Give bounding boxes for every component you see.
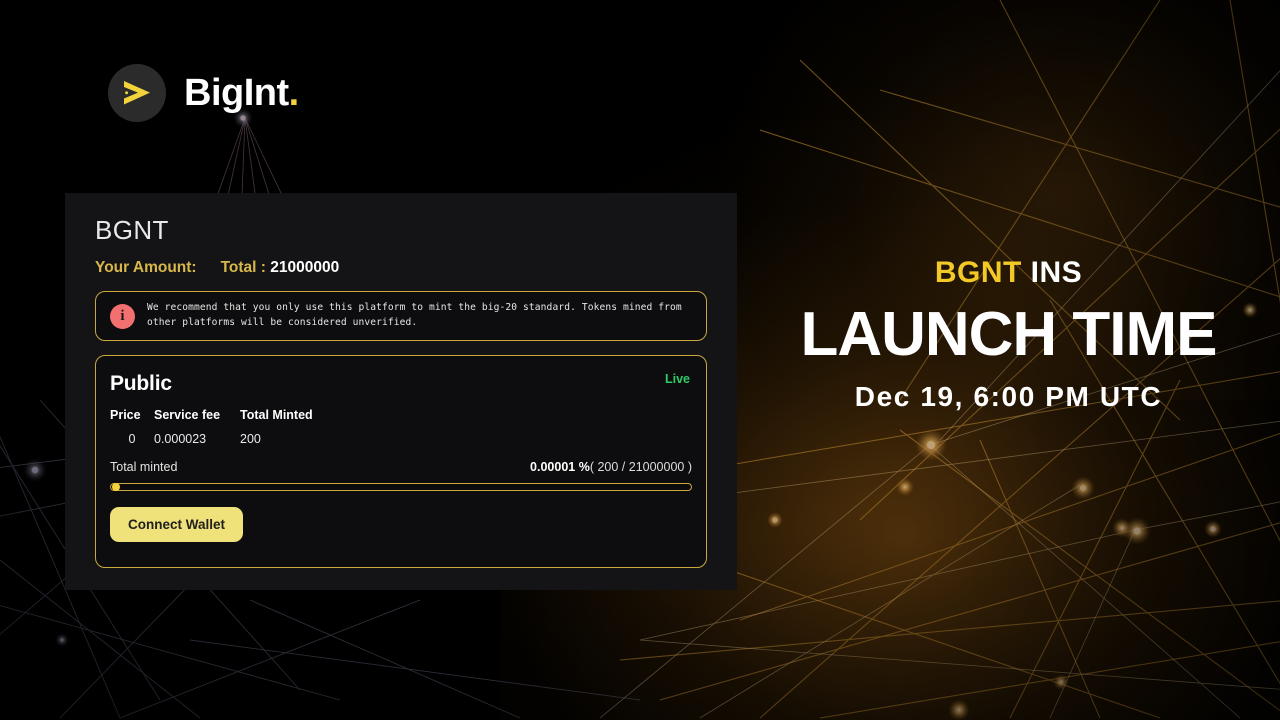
hero-section: BGNT INS LAUNCH TIME Dec 19, 6:00 PM UTC [737,258,1280,413]
brand-logo[interactable]: BigInt. [108,64,299,122]
progress-bar[interactable] [110,483,692,491]
table-header-row: Price Service fee Total Minted [110,408,350,432]
brand-name-text: BigInt [184,72,289,114]
hero-kicker-white: INS [1022,256,1082,289]
progress-knob[interactable] [112,483,120,491]
recommendation-alert: i We recommend that you only use this pl… [95,291,707,341]
cell-price: 0 [110,432,154,446]
amount-row: Your Amount: Total : 21000000 [95,259,707,277]
column-header-price: Price [110,408,154,432]
mint-stats-table: Price Service fee Total Minted 0 0.00002… [110,408,350,446]
cell-total-minted: 200 [240,432,350,446]
progress-label-row: Total minted 0.00001 %( 200 / 21000000 ) [110,460,692,474]
cell-service-fee: 0.000023 [154,432,240,446]
round-title: Public [110,372,172,396]
play-arrow-icon [120,78,154,108]
total-group: Total : 21000000 [221,259,340,277]
brand-name-dot: . [289,72,299,114]
hero-title: LAUNCH TIME [737,302,1280,367]
total-label: Total : [221,259,266,276]
logo-badge [108,64,166,122]
hero-kicker: BGNT INS [737,258,1280,288]
token-ticker: BGNT [95,215,707,246]
table-row: 0 0.000023 200 [110,432,350,446]
brand-name: BigInt. [184,74,299,112]
alert-text: We recommend that you only use this plat… [147,301,692,331]
column-header-service-fee: Service fee [154,408,240,432]
progress-percent: 0.00001 % [530,460,590,474]
mint-panel: BGNT Your Amount: Total : 21000000 i We … [65,193,737,590]
progress-values: 0.00001 %( 200 / 21000000 ) [530,460,692,474]
card-header: Public Live [110,372,692,396]
total-value: 21000000 [270,259,339,276]
status-badge: Live [665,372,692,386]
your-amount-label: Your Amount: [95,259,197,277]
mint-round-card: Public Live Price Service fee Total Mint… [95,355,707,568]
column-header-total-minted: Total Minted [240,408,350,432]
progress-fraction: ( 200 / 21000000 ) [590,460,692,474]
progress-label: Total minted [110,460,177,474]
connect-wallet-button[interactable]: Connect Wallet [110,507,243,542]
hero-kicker-gold: BGNT [935,256,1022,289]
info-icon: i [110,304,135,329]
hero-subtitle: Dec 19, 6:00 PM UTC [737,381,1280,413]
